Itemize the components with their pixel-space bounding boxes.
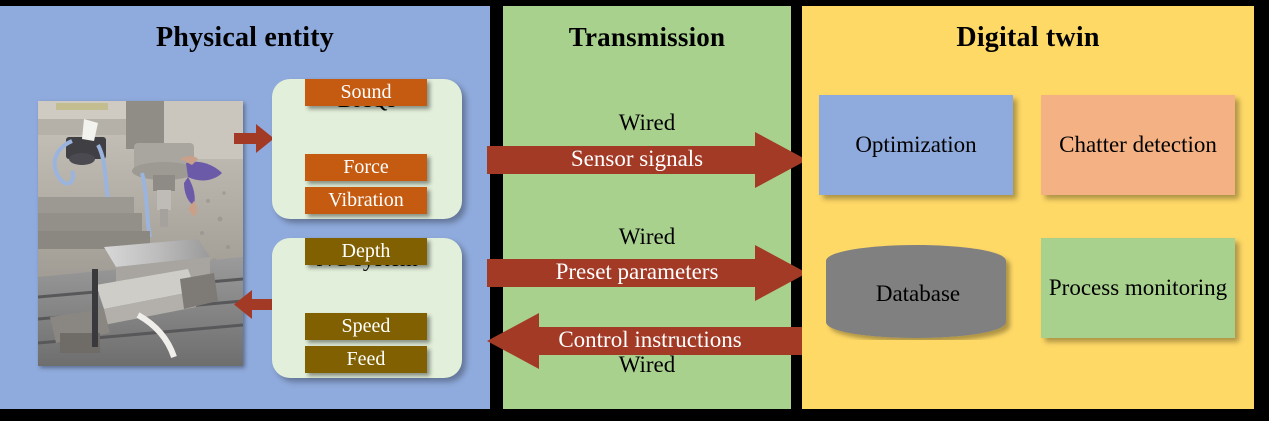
panel-title-digital-twin: Digital twin	[802, 22, 1254, 54]
card-chatter-detection[interactable]: Chatter detection	[1041, 95, 1235, 195]
card-label-database: Database	[822, 281, 1014, 307]
arrow-control-instructions	[487, 313, 807, 369]
arrow-nc-system-to-machine-icon	[234, 288, 274, 321]
chip-force[interactable]: Force	[305, 154, 427, 181]
group-box-daqs: DAQs Force Vibration Sound	[272, 79, 462, 219]
panel-title-physical-entity: Physical entity	[0, 22, 490, 54]
arrow-preset-parameters	[487, 245, 807, 301]
chip-sound[interactable]: Sound	[305, 79, 427, 106]
card-label-chatter-detection: Chatter detection	[1059, 132, 1217, 158]
cnc-machine-photo	[38, 101, 243, 366]
chip-vibration[interactable]: Vibration	[305, 187, 427, 214]
card-label-optimization: Optimization	[855, 132, 976, 158]
chip-feed[interactable]: Feed	[305, 346, 427, 373]
card-database[interactable]: Database	[822, 243, 1014, 340]
panel-digital-twin: Digital twin	[802, 6, 1254, 409]
card-optimization[interactable]: Optimization	[819, 95, 1013, 195]
group-box-nc-system: NC system Speed Feed Depth	[272, 238, 462, 378]
diagram-canvas: Physical entity	[0, 0, 1269, 421]
chip-speed[interactable]: Speed	[305, 313, 427, 340]
arrow-sensor-signals	[487, 132, 807, 188]
panel-title-transmission: Transmission	[503, 22, 791, 53]
chip-depth[interactable]: Depth	[305, 238, 427, 265]
panel-physical-entity: Physical entity	[0, 6, 490, 409]
card-label-process-monitoring: Process monitoring	[1049, 275, 1227, 301]
card-process-monitoring[interactable]: Process monitoring	[1041, 238, 1235, 338]
arrow-photo-to-daqs-icon	[234, 122, 274, 155]
